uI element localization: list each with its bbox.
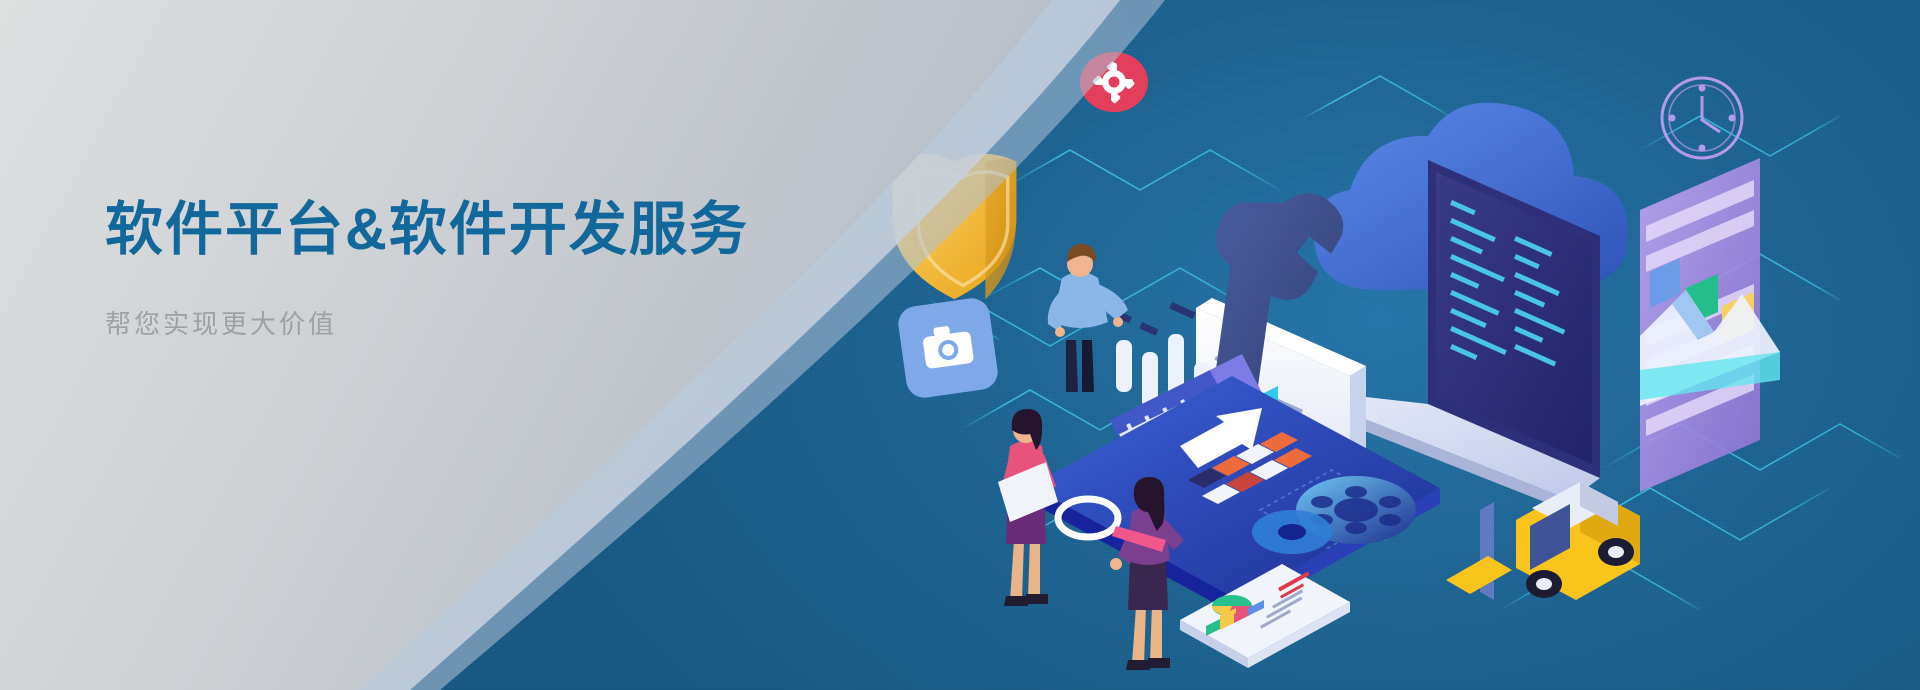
page-subtitle: 帮您实现更大价值 — [105, 264, 825, 342]
hero-copy: 软件平台&软件开发服务 帮您实现更大价值 — [105, 196, 825, 342]
gray-curve-panel — [0, 0, 1920, 690]
hero-banner: 软件平台&软件开发服务 帮您实现更大价值 — [0, 0, 1920, 690]
page-title: 软件平台&软件开发服务 — [105, 196, 825, 264]
